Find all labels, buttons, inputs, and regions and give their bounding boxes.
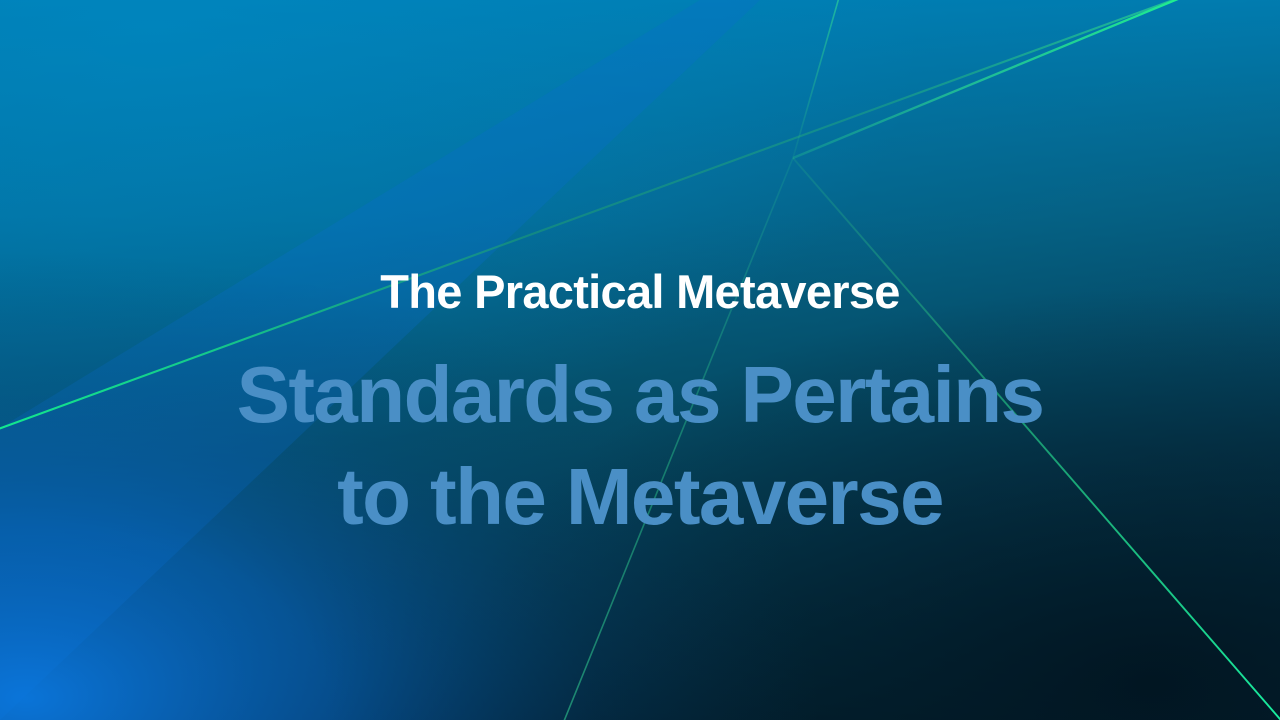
slide-content: The Practical Metaverse Standards as Per… — [0, 0, 1280, 720]
slide-canvas: The Practical Metaverse Standards as Per… — [0, 0, 1280, 720]
headline-line-1: Standards as Pertains — [0, 344, 1280, 446]
slide-eyebrow: The Practical Metaverse — [0, 268, 1280, 317]
headline-line-2: to the Metaverse — [0, 446, 1280, 548]
slide-headline: Standards as Pertains to the Metaverse — [0, 344, 1280, 547]
